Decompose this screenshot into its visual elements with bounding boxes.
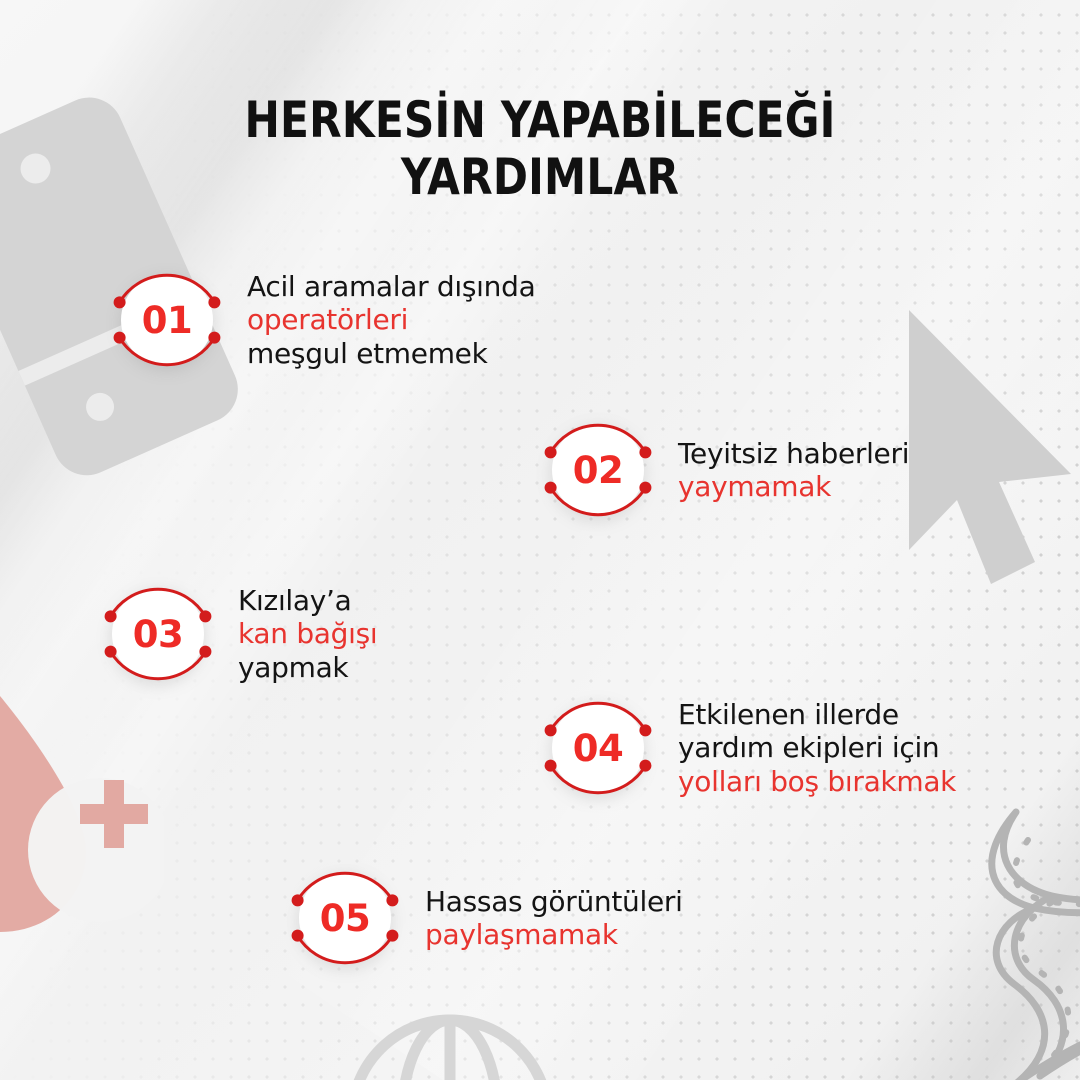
item-line: yapmak [238, 651, 377, 684]
badge-number: 02 [536, 408, 660, 532]
badge-number: 04 [536, 686, 660, 810]
item-line-accent: kan bağışı [238, 617, 377, 650]
list-item-02: 02 Teyitsiz haberleri yaymamak [536, 408, 909, 532]
item-line: yardım ekipleri için [678, 731, 956, 764]
list-item-05: 05 Hassas görüntüleri paylaşmamak [283, 856, 683, 980]
cursor-arrow-icon [895, 300, 1080, 600]
item-text: Hassas görüntüleri paylaşmamak [425, 885, 683, 951]
number-badge-05: 05 [283, 856, 407, 980]
item-line-accent: operatörleri [247, 303, 535, 336]
item-text: Etkilenen illerde yardım ekipleri için y… [678, 698, 956, 797]
number-badge-01: 01 [105, 258, 229, 382]
globe-icon [335, 998, 565, 1080]
number-badge-02: 02 [536, 408, 660, 532]
item-line: Kızılay’a [238, 584, 377, 617]
item-line-accent: yaymamak [678, 470, 909, 503]
item-text: Kızılay’a kan bağışı yapmak [238, 584, 377, 683]
item-text: Teyitsiz haberleri yaymamak [678, 437, 909, 503]
item-line: Acil aramalar dışında [247, 270, 535, 303]
infographic-canvas: HERKESİN YAPABİLECEĞİ YARDIMLAR 01 Acil … [0, 0, 1080, 1080]
number-badge-03: 03 [96, 572, 220, 696]
list-item-03: 03 Kızılay’a kan bağışı yapmak [96, 572, 377, 696]
medical-cross-icon [74, 774, 154, 854]
item-line: Etkilenen illerde [678, 698, 956, 731]
number-badge-04: 04 [536, 686, 660, 810]
page-title: HERKESİN YAPABİLECEĞİ YARDIMLAR [32, 92, 1047, 206]
item-line-accent: yolları boş bırakmak [678, 765, 956, 798]
list-item-01: 01 Acil aramalar dışında operatörleri me… [105, 258, 535, 382]
road-path-icon [940, 800, 1080, 1080]
badge-number: 05 [283, 856, 407, 980]
item-line: Teyitsiz haberleri [678, 437, 909, 470]
item-text: Acil aramalar dışında operatörleri meşgu… [247, 270, 535, 369]
item-line-accent: paylaşmamak [425, 918, 683, 951]
badge-number: 01 [105, 258, 229, 382]
item-line: Hassas görüntüleri [425, 885, 683, 918]
item-line: meşgul etmemek [247, 337, 535, 370]
list-item-04: 04 Etkilenen illerde yardım ekipleri içi… [536, 686, 956, 810]
badge-number: 03 [96, 572, 220, 696]
